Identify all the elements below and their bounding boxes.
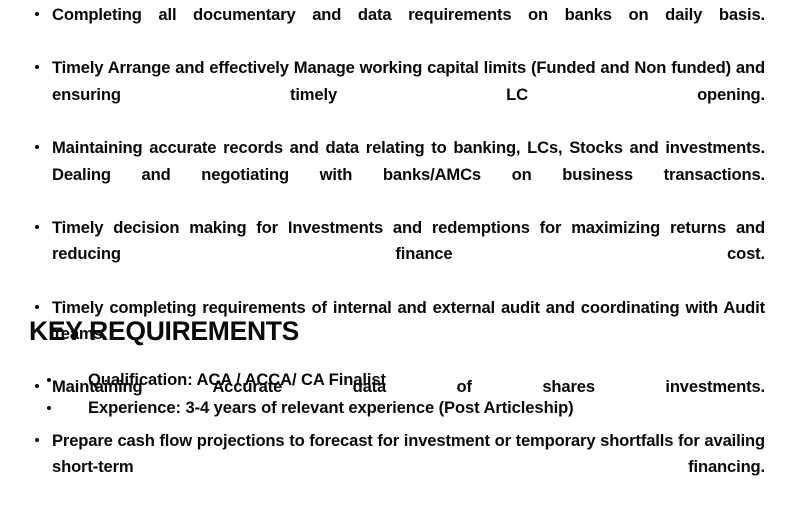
list-item-text: Experience: 3-4 years of relevant experi… — [88, 398, 574, 417]
bullet-dot-icon — [47, 406, 51, 410]
list-item: Timely decision making for Investments a… — [30, 215, 765, 295]
list-item: Completing all documentary and data requ… — [30, 2, 765, 55]
bullet-dot-icon — [35, 305, 39, 309]
document-page: Completing all documentary and data requ… — [0, 0, 800, 445]
list-item: Qualification: ACA / ACCA/ CA Finalist — [44, 366, 764, 394]
key-requirements-list: Qualification: ACA / ACCA/ CA Finalist E… — [44, 366, 764, 422]
bullet-dot-icon — [35, 65, 39, 69]
bullet-dot-icon — [35, 384, 39, 388]
list-item: Maintaining accurate records and data re… — [30, 135, 765, 215]
bullet-dot-icon — [35, 438, 39, 442]
list-item-text: Completing all documentary and data requ… — [52, 2, 765, 55]
list-item-text: Timely Arrange and effectively Manage wo… — [52, 55, 765, 135]
page-title: KEY REQUIREMENTS — [29, 316, 299, 346]
list-item-text: Timely decision making for Investments a… — [52, 215, 765, 295]
list-item: Prepare cash flow projections to forecas… — [30, 428, 765, 507]
list-item: Experience: 3-4 years of relevant experi… — [44, 394, 764, 422]
list-item-text: Qualification: ACA / ACCA/ CA Finalist — [88, 370, 386, 389]
bullet-dot-icon — [35, 145, 39, 149]
list-item-text: Maintaining accurate records and data re… — [52, 135, 765, 215]
bullet-dot-icon — [47, 378, 51, 382]
bullet-dot-icon — [35, 225, 39, 229]
list-item-text: Prepare cash flow projections to forecas… — [52, 428, 765, 507]
list-item: Timely Arrange and effectively Manage wo… — [30, 55, 765, 135]
bullet-dot-icon — [35, 12, 39, 16]
responsibilities-list: Completing all documentary and data requ… — [30, 2, 765, 507]
